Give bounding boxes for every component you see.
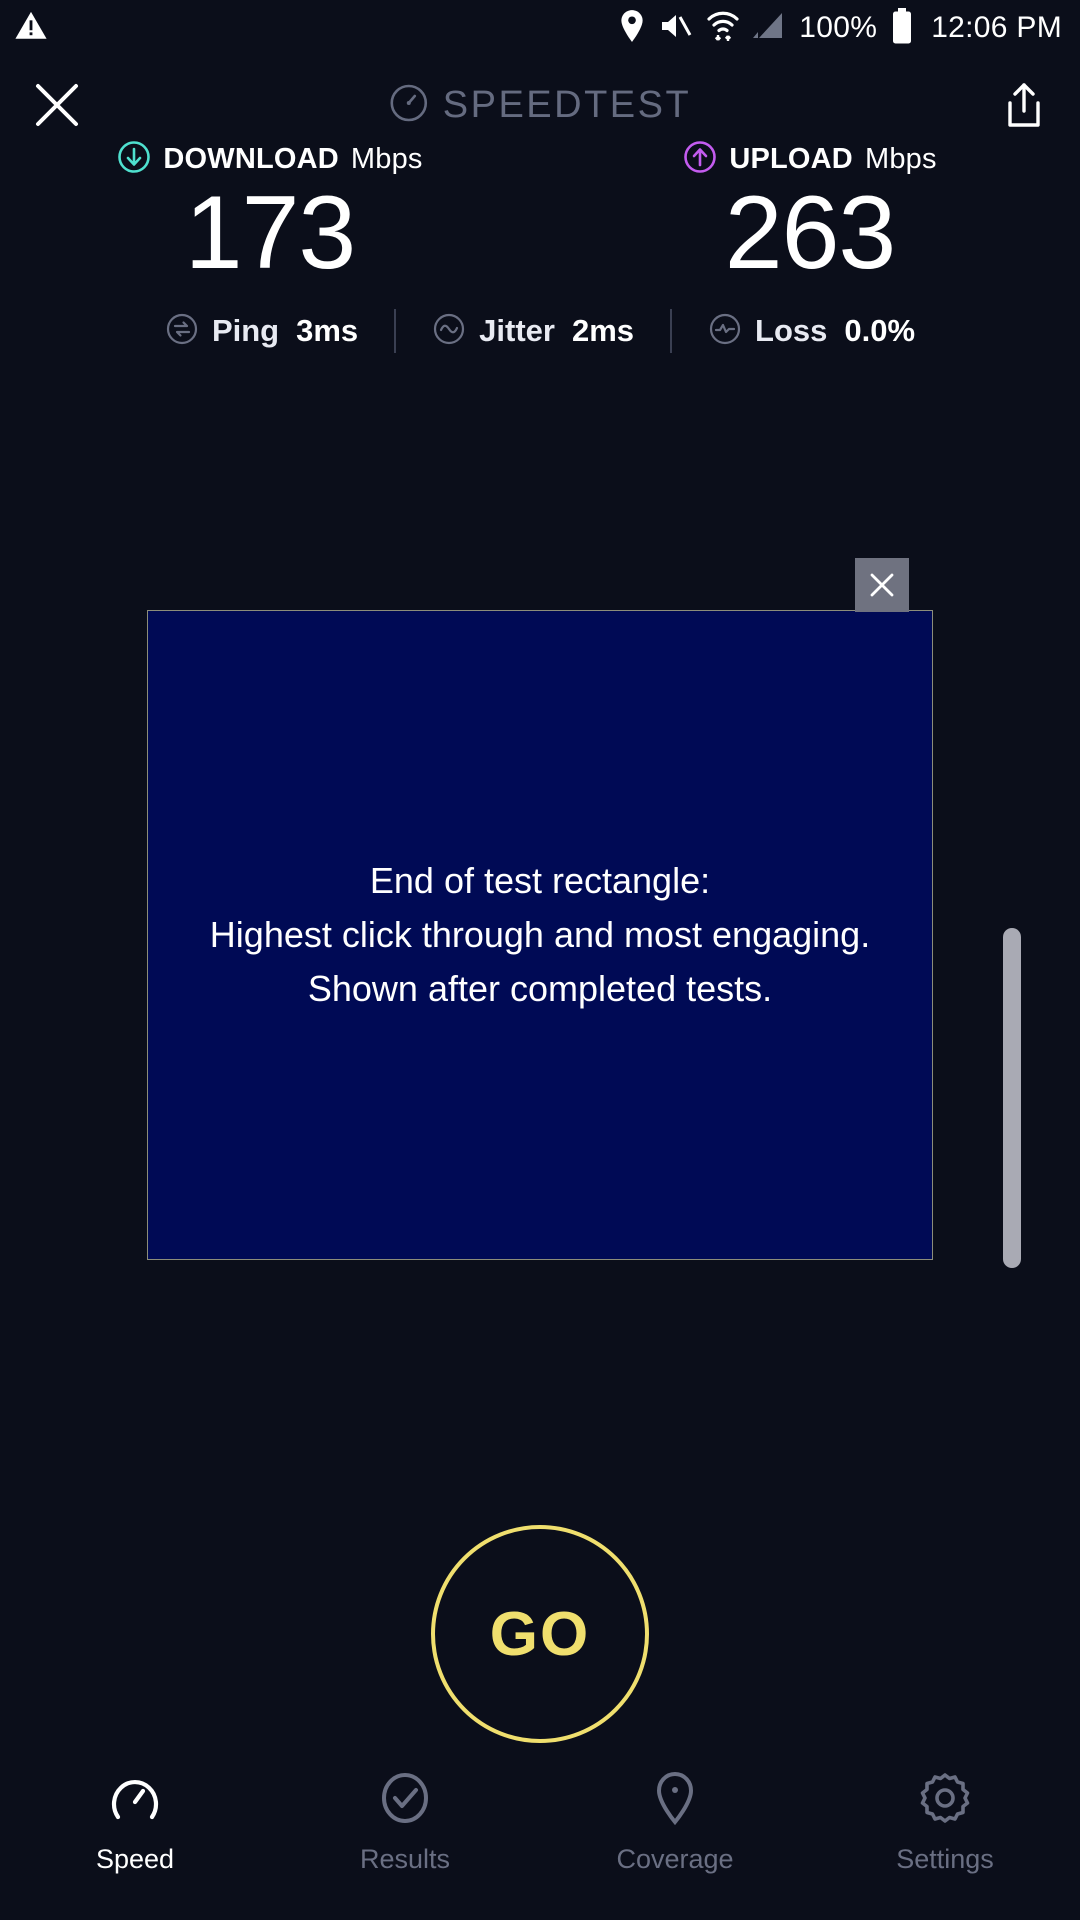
upload-label: UPLOAD: [729, 143, 853, 176]
share-icon[interactable]: [1002, 81, 1046, 129]
download-arrow-icon: [117, 140, 151, 179]
download-label: DOWNLOAD: [163, 143, 339, 176]
upload-value: 263: [725, 181, 896, 285]
nav-item-settings[interactable]: Settings: [810, 1769, 1080, 1875]
speed-readouts: DOWNLOAD Mbps 173 UPLOAD Mbps 263: [0, 140, 1080, 285]
status-bar: 100% 12:06 PM: [0, 0, 1080, 56]
check-circle-icon: [376, 1769, 434, 1830]
metric-jitter: Jitter 2ms: [396, 312, 670, 351]
jitter-icon: [432, 312, 466, 351]
wifi-icon: [707, 8, 739, 49]
app-title-group: SPEEDTEST: [389, 83, 691, 128]
status-bar-clock: 12:06 PM: [931, 11, 1062, 45]
download-unit: Mbps: [351, 143, 423, 176]
speedometer-icon: [106, 1769, 164, 1830]
go-button[interactable]: GO: [431, 1525, 649, 1743]
map-pin-icon: [646, 1769, 704, 1830]
ad-text-line-2: Highest click through and most engaging.: [210, 908, 870, 962]
upload-header: UPLOAD Mbps: [683, 140, 936, 179]
connection-metrics: Ping 3ms Jitter 2ms Loss 0.0: [0, 309, 1080, 353]
metric-ping: Ping 3ms: [129, 312, 394, 351]
nav-item-coverage[interactable]: Coverage: [540, 1769, 810, 1875]
download-value: 173: [185, 181, 356, 285]
cellular-signal-icon: [753, 11, 785, 46]
warning-triangle-icon: [14, 9, 48, 48]
jitter-value: 2ms: [572, 313, 634, 349]
ad-text: End of test rectangle: Highest click thr…: [210, 854, 870, 1016]
ping-icon: [165, 312, 199, 351]
loss-icon: [708, 312, 742, 351]
ad-text-line-3: Shown after completed tests.: [210, 962, 870, 1016]
nav-label-results: Results: [360, 1844, 450, 1875]
download-result: DOWNLOAD Mbps 173: [0, 140, 540, 285]
ad-banner[interactable]: End of test rectangle: Highest click thr…: [147, 610, 933, 1260]
jitter-label: Jitter: [479, 313, 555, 349]
upload-arrow-icon: [683, 140, 717, 179]
page-title: SPEEDTEST: [443, 84, 691, 127]
upload-result: UPLOAD Mbps 263: [540, 140, 1080, 285]
ping-value: 3ms: [296, 313, 358, 349]
ad-close-icon[interactable]: [855, 558, 909, 612]
nav-label-speed: Speed: [96, 1844, 174, 1875]
nav-item-results[interactable]: Results: [270, 1769, 540, 1875]
battery-percent-label: 100%: [799, 11, 877, 45]
advertisement: End of test rectangle: Highest click thr…: [147, 610, 933, 1260]
bottom-navigation: Speed Results Coverage Settings: [0, 1755, 1080, 1920]
download-header: DOWNLOAD Mbps: [117, 140, 422, 179]
nav-item-speed[interactable]: Speed: [0, 1769, 270, 1875]
status-bar-right: 100% 12:06 PM: [619, 8, 1062, 49]
gear-icon: [916, 1769, 974, 1830]
loss-value: 0.0%: [844, 313, 915, 349]
ping-label: Ping: [212, 313, 279, 349]
app-header: SPEEDTEST: [0, 62, 1080, 148]
nav-label-coverage: Coverage: [616, 1844, 733, 1875]
upload-unit: Mbps: [865, 143, 937, 176]
ad-text-line-1: End of test rectangle:: [210, 854, 870, 908]
status-bar-left: [14, 9, 48, 48]
close-icon[interactable]: [34, 82, 80, 128]
battery-full-icon: [891, 8, 913, 49]
nav-label-settings: Settings: [896, 1844, 994, 1875]
volume-mute-icon: [659, 11, 693, 46]
metric-loss: Loss 0.0%: [672, 312, 951, 351]
test-results: DOWNLOAD Mbps 173 UPLOAD Mbps 263: [0, 140, 1080, 353]
loss-label: Loss: [755, 313, 827, 349]
location-pin-icon: [619, 9, 645, 48]
scrollbar-thumb[interactable]: [1003, 928, 1021, 1268]
speedtest-gauge-icon: [389, 83, 429, 128]
